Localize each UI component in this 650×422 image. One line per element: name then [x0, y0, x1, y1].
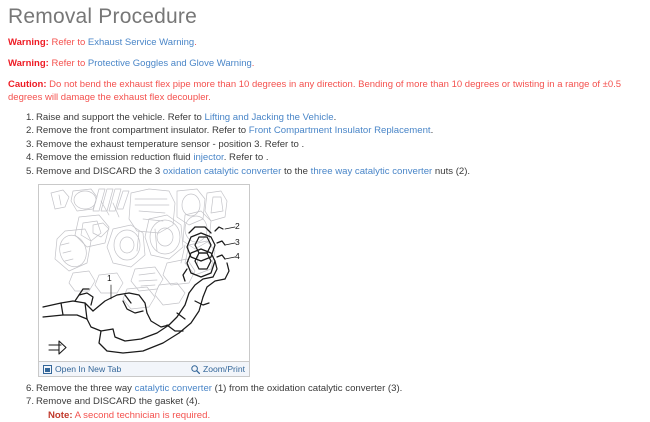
- step-text: Remove the three way: [36, 383, 135, 394]
- procedure-step: 3.Remove the exhaust temperature sensor …: [8, 139, 642, 151]
- procedure-step: 6.Remove the three way catalytic convert…: [8, 383, 642, 395]
- admonition-keyword: Warning:: [8, 37, 49, 48]
- procedure-steps-bottom: 6.Remove the three way catalytic convert…: [8, 383, 642, 409]
- page-title: Removal Procedure: [8, 4, 642, 30]
- step-text: Remove and DISCARD the gasket (4).: [36, 396, 200, 407]
- figure-panel: 1 2 3 4 Open In New Tab: [38, 184, 250, 377]
- step-link[interactable]: injector: [193, 152, 223, 163]
- figure-canvas[interactable]: 1 2 3 4: [39, 185, 249, 361]
- step-text: Remove the front compartment insulator. …: [36, 125, 249, 136]
- warning-exhaust-service: Warning: Refer to Exhaust Service Warnin…: [8, 36, 642, 49]
- external-window-icon: [43, 365, 52, 374]
- procedure-step: 2.Remove the front compartment insulator…: [8, 125, 642, 137]
- caution-exhaust-flex-pipe: Caution: Do not bend the exhaust flex pi…: [8, 78, 634, 104]
- procedure-document: Removal Procedure Warning: Refer to Exha…: [0, 0, 650, 422]
- step-text: Remove the emission reduction fluid: [36, 152, 193, 163]
- note-text: A second technician is required.: [73, 410, 211, 421]
- step-link[interactable]: catalytic converter: [135, 383, 212, 394]
- step-text: . Refer to .: [224, 152, 269, 163]
- procedure-step: 4.Remove the emission reduction fluid in…: [8, 152, 642, 164]
- step-text: nuts (2).: [432, 166, 470, 177]
- step-text: .: [334, 112, 337, 123]
- open-in-new-tab-label: Open In New Tab: [55, 364, 121, 374]
- step-link[interactable]: three way catalytic converter: [311, 166, 433, 177]
- zoom-print-label: Zoom/Print: [203, 364, 245, 374]
- link-protective-goggles-and-glove-warning[interactable]: Protective Goggles and Glove Warning: [88, 58, 252, 69]
- warning-protective-goggles: Warning: Refer to Protective Goggles and…: [8, 57, 642, 70]
- step-number: 5.: [20, 166, 34, 178]
- admonition-keyword: Warning:: [8, 58, 49, 69]
- step-number: 4.: [20, 152, 34, 164]
- step-link[interactable]: Front Compartment Insulator Replacement: [249, 125, 431, 136]
- step-text: Remove the exhaust temperature sensor - …: [36, 139, 304, 150]
- procedure-step: 5.Remove and DISCARD the 3 oxidation cat…: [8, 166, 642, 178]
- admonition-text-before: Refer to: [49, 37, 88, 48]
- step-number: 3.: [20, 139, 34, 151]
- step-number: 1.: [20, 112, 34, 124]
- zoom-print-button[interactable]: Zoom/Print: [191, 364, 245, 374]
- callout-3: 3: [235, 237, 240, 247]
- direction-arrow-icon: [49, 341, 66, 354]
- admonition-text-before: Do not bend the exhaust flex pipe more t…: [8, 79, 621, 103]
- step-text: Remove and DISCARD the 3: [36, 166, 163, 177]
- exhaust-assembly-diagram: [39, 185, 249, 361]
- step-link[interactable]: Lifting and Jacking the Vehicle: [205, 112, 334, 123]
- note-keyword: Note:: [48, 410, 73, 421]
- step-text: (1) from the oxidation catalytic convert…: [212, 383, 402, 394]
- procedure-step: 1.Raise and support the vehicle. Refer t…: [8, 112, 642, 124]
- admonition-text-after: .: [252, 58, 255, 69]
- callout-2: 2: [235, 221, 240, 231]
- callout-4: 4: [235, 251, 240, 261]
- admonition-text-after: .: [194, 37, 197, 48]
- open-in-new-tab-button[interactable]: Open In New Tab: [43, 364, 121, 374]
- step-text: Raise and support the vehicle. Refer to: [36, 112, 205, 123]
- admonition-keyword: Caution:: [8, 79, 47, 90]
- step-text: .: [431, 125, 434, 136]
- admonition-text-before: Refer to: [49, 58, 88, 69]
- link-exhaust-service-warning[interactable]: Exhaust Service Warning: [88, 37, 194, 48]
- figure-footer: Open In New Tab Zoom/Print: [39, 361, 249, 376]
- magnifier-icon: [191, 365, 200, 374]
- note-second-technician: Note: A second technician is required.: [8, 410, 642, 422]
- callout-1: 1: [107, 273, 112, 283]
- step-link[interactable]: oxidation catalytic converter: [163, 166, 281, 177]
- step-number: 2.: [20, 125, 34, 137]
- procedure-steps-top: 1.Raise and support the vehicle. Refer t…: [8, 112, 642, 178]
- step-number: 6.: [20, 383, 34, 395]
- step-text: to the: [281, 166, 310, 177]
